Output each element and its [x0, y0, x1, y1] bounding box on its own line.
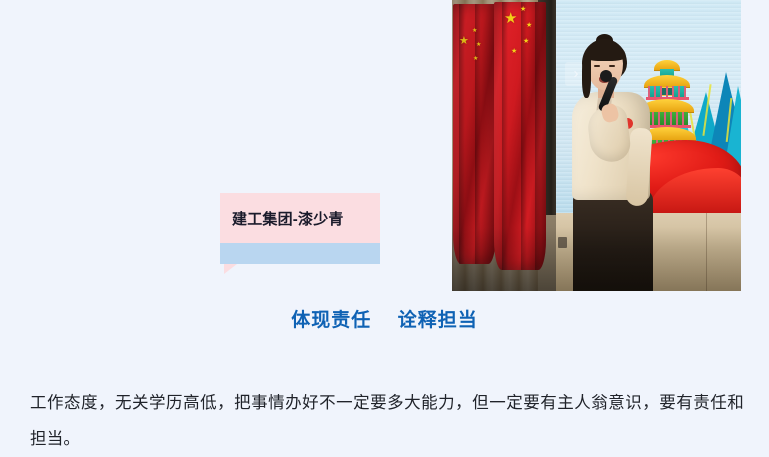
page-title: 体现责任 诠释担当 [0, 305, 769, 332]
headline-right: 诠释担当 [398, 310, 478, 331]
photo-canvas: ★ ★ ★ ★ ★ ★ ★ ★ ★ › [452, 0, 741, 291]
article-page: ★ ★ ★ ★ ★ ★ ★ ★ ★ › [0, 0, 769, 445]
stage-performance-photo[interactable]: ★ ★ ★ ★ ★ ★ ★ ★ ★ › [452, 0, 741, 291]
speaker-name-callout: 建工集团-漆少青 [220, 193, 380, 274]
performer-figure [556, 32, 674, 291]
callout-tail [224, 264, 237, 274]
china-flag-front: ★ ★ ★ ★ ★ [494, 2, 546, 270]
callout-blue-band [220, 243, 380, 264]
microphone-head [600, 70, 612, 82]
speaker-name-label: 建工集团-漆少青 [232, 208, 344, 229]
performer-hair-strand [582, 54, 591, 98]
headline-left: 体现责任 [291, 310, 371, 331]
china-flag-back: ★ ★ ★ ★ [453, 4, 496, 264]
body-paragraph: 工作态度，无关学历高低，把事情办好不一定要多大能力，但一定要有主人翁意识，要有责… [30, 385, 744, 457]
callout-top: 建工集团-漆少青 [220, 193, 380, 243]
